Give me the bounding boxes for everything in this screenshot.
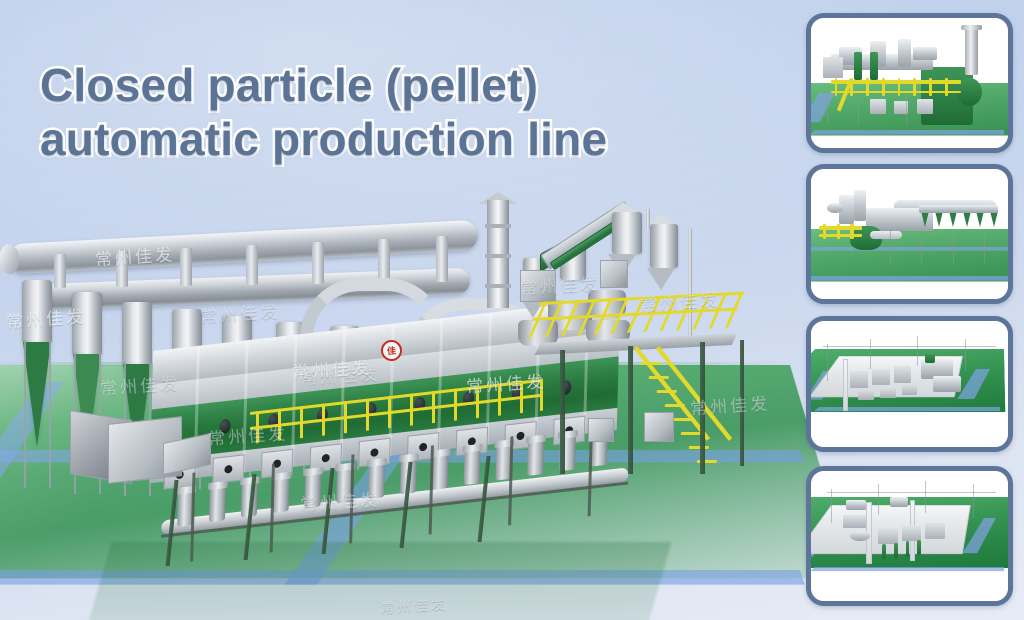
platform-support-leg — [700, 342, 705, 474]
thumbnail-2[interactable] — [806, 164, 1013, 304]
page-title: Closed particle (pellet) automatic produ… — [40, 58, 740, 166]
thumbnail-2-image — [811, 169, 1008, 299]
silo-discharge-cone — [647, 268, 675, 290]
duct-riser — [180, 248, 192, 286]
duct-riser — [116, 251, 128, 287]
vertical-pipe — [646, 208, 650, 230]
platform-support-leg — [740, 340, 744, 466]
duct-riser — [378, 239, 390, 283]
title-line-2: automatic production line — [40, 112, 740, 166]
drive-housing — [520, 270, 556, 302]
thumbnail-4[interactable] — [806, 466, 1013, 606]
thumbnail-4-image — [811, 471, 1008, 601]
thumbnail-1-image — [811, 18, 1008, 148]
brand-logo-char: 佳 — [386, 344, 396, 358]
platform-support-leg — [628, 346, 633, 474]
duct-riser — [312, 242, 324, 284]
thumbnail-3-image — [811, 321, 1008, 447]
banner-stage: 常州佳发 常州佳发 常州佳发 常州佳发 常州佳发 常州佳发 常州佳发 常州佳发 … — [0, 0, 1024, 620]
drive-housing — [600, 260, 628, 288]
main-air-duct — [8, 220, 479, 275]
access-stairway — [619, 346, 755, 476]
weighing-silo — [612, 212, 642, 254]
duct-riser — [436, 236, 448, 282]
thumbnail-3[interactable] — [806, 316, 1013, 452]
stack-ring — [485, 224, 511, 228]
pump-unit — [588, 418, 614, 442]
thumbnail-gallery — [794, 0, 1008, 620]
pump-unit — [644, 412, 674, 442]
vertical-pipe — [688, 228, 692, 348]
thumbnail-1[interactable] — [806, 13, 1013, 153]
storage-silo — [650, 224, 678, 268]
stack-ring — [485, 254, 511, 258]
platform-support-leg — [560, 350, 565, 474]
silo-lid — [609, 202, 637, 212]
stack-ring — [485, 284, 511, 288]
duct-riser — [54, 254, 66, 288]
machine-floor-reflection — [68, 542, 671, 620]
product-3d-render — [0, 150, 800, 620]
duct-riser — [246, 245, 258, 285]
silo-lid — [647, 214, 675, 224]
title-line-1: Closed particle (pellet) — [40, 58, 740, 112]
